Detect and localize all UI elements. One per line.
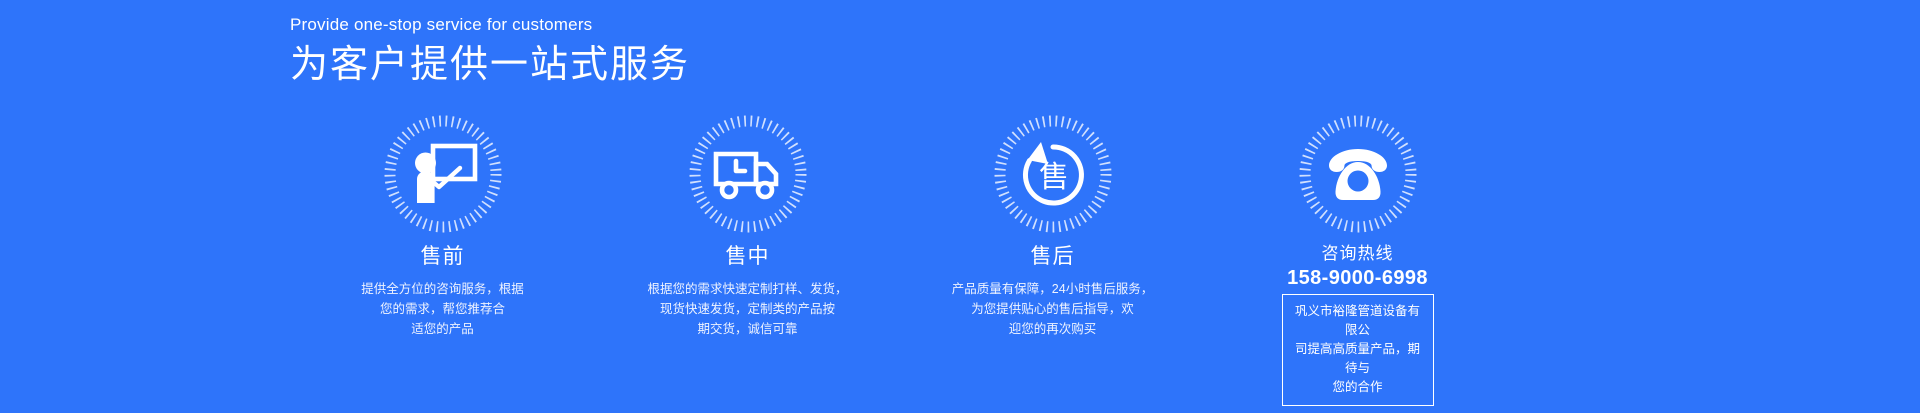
delivery-truck-clock-icon bbox=[711, 137, 785, 211]
icon-ring-hotline bbox=[1297, 113, 1419, 235]
desc-line: 为您提供贴心的售后指导，欢 bbox=[952, 299, 1153, 319]
telephone-icon bbox=[1321, 137, 1395, 211]
company-info-line: 巩义市裕隆管道设备有限公 bbox=[1293, 302, 1423, 340]
desc-line: 您的需求，帮您推荐合 bbox=[361, 299, 524, 319]
service-column-aftersale: 售 售后 产品质量有保障，24小时售后服务， 为您提供贴心的售后指导，欢 迎您的… bbox=[900, 113, 1205, 339]
company-info-line: 司提高高质量产品，期待与 bbox=[1293, 340, 1423, 378]
icon-ring-aftersale: 售 bbox=[992, 113, 1114, 235]
hotline-label: 咨询热线 bbox=[1322, 243, 1394, 264]
icon-ring-presale bbox=[382, 113, 504, 235]
service-column-presale: 售前 提供全方位的咨询服务，根据 您的需求，帮您推荐合 适您的产品 bbox=[290, 113, 595, 339]
desc-line: 根据您的需求快速定制打样、发货， bbox=[647, 279, 847, 299]
banner-subtitle-en: Provide one-stop service for customers bbox=[290, 14, 1190, 36]
desc-line: 产品质量有保障，24小时售后服务， bbox=[952, 279, 1153, 299]
after-sales-refresh-icon: 售 bbox=[1016, 137, 1090, 211]
company-info-box: 巩义市裕隆管道设备有限公 司提高高质量产品，期待与 您的合作 bbox=[1282, 294, 1434, 406]
icon-ring-insale bbox=[687, 113, 809, 235]
hotline-number[interactable]: 158-9000-6998 bbox=[1287, 266, 1428, 291]
presenter-whiteboard-icon bbox=[406, 137, 480, 211]
service-desc-presale: 提供全方位的咨询服务，根据 您的需求，帮您推荐合 适您的产品 bbox=[361, 279, 524, 339]
banner-header: Provide one-stop service for customers 为… bbox=[290, 14, 1190, 90]
service-title-insale: 售中 bbox=[726, 243, 770, 270]
service-column-hotline: 咨询热线 158-9000-6998 巩义市裕隆管道设备有限公 司提高高质量产品… bbox=[1205, 113, 1510, 406]
company-info-line: 您的合作 bbox=[1293, 378, 1423, 397]
service-title-presale: 售前 bbox=[421, 243, 465, 270]
desc-line: 提供全方位的咨询服务，根据 bbox=[361, 279, 524, 299]
desc-line: 迎您的再次购买 bbox=[952, 319, 1153, 339]
desc-line: 现货快速发货，定制类的产品按 bbox=[647, 299, 847, 319]
desc-line: 期交货，诚信可靠 bbox=[647, 319, 847, 339]
service-banner: Provide one-stop service for customers 为… bbox=[0, 0, 1920, 413]
desc-line: 适您的产品 bbox=[361, 319, 524, 339]
banner-title-cn: 为客户提供一站式服务 bbox=[290, 42, 1190, 90]
service-desc-aftersale: 产品质量有保障，24小时售后服务， 为您提供贴心的售后指导，欢 迎您的再次购买 bbox=[952, 279, 1153, 339]
svg-text:售: 售 bbox=[1039, 161, 1069, 194]
service-columns: 售前 提供全方位的咨询服务，根据 您的需求，帮您推荐合 适您的产品 bbox=[290, 113, 1510, 406]
service-title-aftersale: 售后 bbox=[1031, 243, 1075, 270]
service-column-insale: 售中 根据您的需求快速定制打样、发货， 现货快速发货，定制类的产品按 期交货，诚… bbox=[595, 113, 900, 339]
service-desc-insale: 根据您的需求快速定制打样、发货， 现货快速发货，定制类的产品按 期交货，诚信可靠 bbox=[647, 279, 847, 339]
